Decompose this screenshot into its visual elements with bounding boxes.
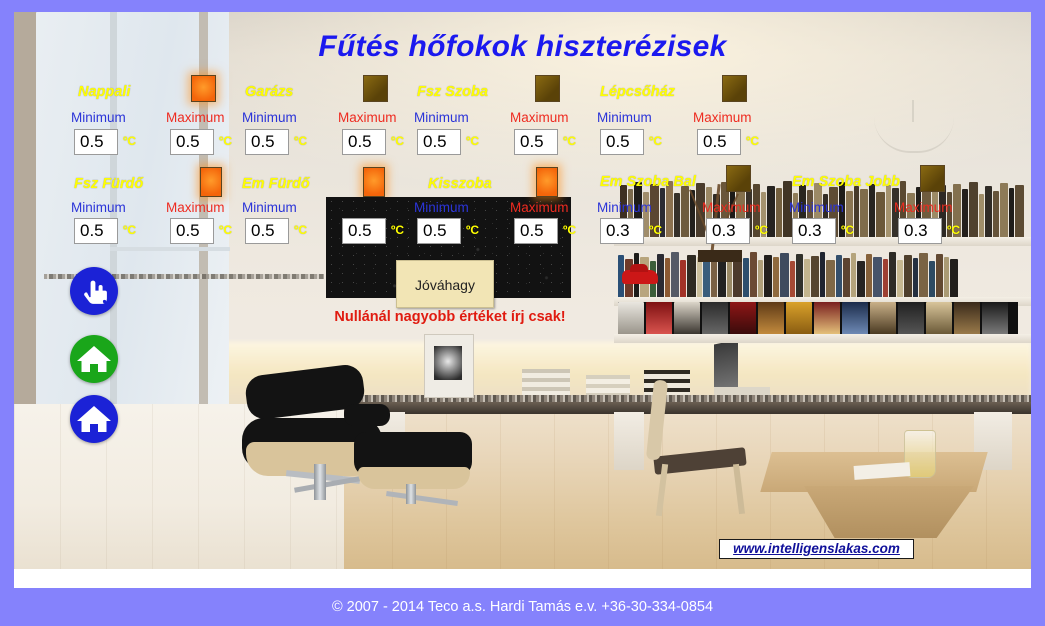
input-kisszoba-min[interactable]: 0.5 xyxy=(417,218,461,244)
approve-button[interactable]: Jóváhagy xyxy=(396,260,494,308)
label-maximum-lepcsohaz: Maximum xyxy=(693,110,752,125)
unit-lepcsohaz-min: ºC xyxy=(649,134,662,148)
home-icon xyxy=(70,335,118,383)
room-label-em-furdo: Em Fürdő xyxy=(242,176,310,192)
input-em-furdo-min[interactable]: 0.5 xyxy=(245,218,289,244)
room-label-em-szoba-bal: Em Szoba Bal xyxy=(600,174,696,190)
application-window: Fűtés hőfokok hiszterézisek Nappali Mini… xyxy=(0,0,1045,626)
unit-fsz-furdo-max: ºC xyxy=(219,223,232,237)
unit-fsz-szoba-min: ºC xyxy=(466,134,479,148)
input-fsz-szoba-min[interactable]: 0.5 xyxy=(417,129,461,155)
input-garazs-max[interactable]: 0.5 xyxy=(342,129,386,155)
website-url-plate[interactable]: www.intelligenslakas.com xyxy=(719,539,914,559)
indicator-garazs[interactable] xyxy=(363,75,388,102)
room-label-nappali: Nappali xyxy=(78,84,130,100)
label-maximum-fsz-furdo: Maximum xyxy=(166,200,225,215)
unit-garazs-max: ºC xyxy=(391,134,404,148)
label-minimum-em-furdo: Minimum xyxy=(242,200,297,215)
unit-nappali-min: ºC xyxy=(123,134,136,148)
unit-em-szoba-jobb-max: ºC xyxy=(947,223,960,237)
label-maximum-em-szoba-jobb: Maximum xyxy=(894,200,953,215)
controls-layer: Fűtés hőfokok hiszterézisek Nappali Mini… xyxy=(14,12,1031,569)
unit-em-szoba-jobb-min: ºC xyxy=(841,223,854,237)
label-minimum-fsz-furdo: Minimum xyxy=(71,200,126,215)
label-minimum-nappali: Minimum xyxy=(71,110,126,125)
unit-nappali-max: ºC xyxy=(219,134,232,148)
label-minimum-kisszoba: Minimum xyxy=(414,200,469,215)
unit-kisszoba-max: ºC xyxy=(563,223,576,237)
hand-pointer-icon xyxy=(70,267,118,315)
indicator-fsz-furdo[interactable] xyxy=(200,167,222,197)
input-kisszoba-max[interactable]: 0.5 xyxy=(514,218,558,244)
input-fsz-furdo-min[interactable]: 0.5 xyxy=(74,218,118,244)
label-maximum-nappali: Maximum xyxy=(166,110,225,125)
label-minimum-garazs: Minimum xyxy=(242,110,297,125)
indicator-kisszoba[interactable] xyxy=(536,167,558,197)
unit-garazs-min: ºC xyxy=(294,134,307,148)
indicator-fsz-szoba[interactable] xyxy=(535,75,560,102)
label-minimum-fsz-szoba: Minimum xyxy=(414,110,469,125)
label-minimum-em-szoba-jobb: Minimum xyxy=(789,200,844,215)
input-em-szoba-bal-min[interactable]: 0.3 xyxy=(600,218,644,244)
label-minimum-lepcsohaz: Minimum xyxy=(597,110,652,125)
home-icon xyxy=(70,395,118,443)
indicator-em-szoba-bal[interactable] xyxy=(726,165,751,192)
unit-fsz-furdo-min: ºC xyxy=(123,223,136,237)
unit-em-furdo-min: ºC xyxy=(294,223,307,237)
label-maximum-garazs: Maximum xyxy=(338,110,397,125)
input-lepcsohaz-min[interactable]: 0.5 xyxy=(600,129,644,155)
unit-kisszoba-min: ºC xyxy=(466,223,479,237)
nav-button-hand-pointer[interactable] xyxy=(70,267,118,315)
input-fsz-szoba-max[interactable]: 0.5 xyxy=(514,129,558,155)
indicator-nappali[interactable] xyxy=(191,75,216,102)
input-nappali-max[interactable]: 0.5 xyxy=(170,129,214,155)
input-lepcsohaz-max[interactable]: 0.5 xyxy=(697,129,741,155)
room-label-em-szoba-jobb: Em Szoba Jobb xyxy=(792,174,900,190)
input-fsz-furdo-max[interactable]: 0.5 xyxy=(170,218,214,244)
unit-em-szoba-bal-min: ºC xyxy=(649,223,662,237)
indicator-lepcsohaz[interactable] xyxy=(722,75,747,102)
label-maximum-em-szoba-bal: Maximum xyxy=(702,200,761,215)
unit-em-szoba-bal-max: ºC xyxy=(755,223,768,237)
nav-button-home-green[interactable] xyxy=(70,335,118,383)
input-em-szoba-jobb-min[interactable]: 0.3 xyxy=(792,218,836,244)
page-sheet: Fűtés hőfokok hiszterézisek Nappali Mini… xyxy=(14,12,1031,588)
room-label-garazs: Garázs xyxy=(245,84,293,100)
unit-em-furdo-max: ºC xyxy=(391,223,404,237)
label-maximum-fsz-szoba: Maximum xyxy=(510,110,569,125)
input-garazs-min[interactable]: 0.5 xyxy=(245,129,289,155)
label-minimum-em-szoba-bal: Minimum xyxy=(597,200,652,215)
input-nappali-min[interactable]: 0.5 xyxy=(74,129,118,155)
warning-message: Nullánál nagyobb értéket írj csak! xyxy=(320,309,580,325)
input-em-szoba-jobb-max[interactable]: 0.3 xyxy=(898,218,942,244)
website-url-text: www.intelligenslakas.com xyxy=(733,541,900,556)
nav-button-home-blue[interactable] xyxy=(70,395,118,443)
indicator-em-furdo[interactable] xyxy=(363,167,385,197)
room-label-fsz-furdo: Fsz Fürdő xyxy=(74,176,143,192)
input-em-furdo-max[interactable]: 0.5 xyxy=(342,218,386,244)
unit-lepcsohaz-max: ºC xyxy=(746,134,759,148)
page-title: Fűtés hőfokok hiszterézisek xyxy=(14,30,1031,64)
unit-fsz-szoba-max: ºC xyxy=(563,134,576,148)
room-label-fsz-szoba: Fsz Szoba xyxy=(417,84,488,100)
label-maximum-kisszoba: Maximum xyxy=(510,200,569,215)
copyright-footer: © 2007 - 2014 Teco a.s. Hardi Tamás e.v.… xyxy=(0,588,1045,626)
room-label-lepcsohaz: Lépcsőház xyxy=(600,84,675,100)
room-label-kisszoba: Kisszoba xyxy=(428,176,492,192)
indicator-em-szoba-jobb[interactable] xyxy=(920,165,945,192)
input-em-szoba-bal-max[interactable]: 0.3 xyxy=(706,218,750,244)
